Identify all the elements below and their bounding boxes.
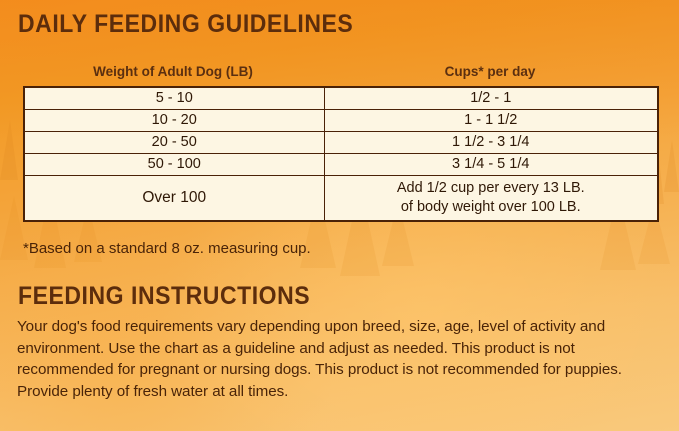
table-row-over-100: Over 100 Add 1/2 cup per every 13 LB. of… bbox=[24, 175, 658, 221]
table-row: 5 - 10 1/2 - 1 bbox=[24, 87, 658, 109]
page-title-feeding-instructions: FEEDING INSTRUCTIONS bbox=[18, 282, 310, 310]
measuring-cup-footnote: *Based on a standard 8 oz. measuring cup… bbox=[23, 240, 311, 257]
cell-weight: 10 - 20 bbox=[24, 109, 324, 131]
cell-cups: 1 - 1 1/2 bbox=[324, 109, 658, 131]
cell-cups: 1/2 - 1 bbox=[324, 87, 658, 109]
cell-weight: 20 - 50 bbox=[24, 131, 324, 153]
cell-weight: Over 100 bbox=[24, 175, 324, 221]
feeding-guidelines-table: 5 - 10 1/2 - 1 10 - 20 1 - 1 1/2 20 - 50… bbox=[23, 86, 659, 222]
cell-weight: 5 - 10 bbox=[24, 87, 324, 109]
table-row: 10 - 20 1 - 1 1/2 bbox=[24, 109, 658, 131]
cell-cups-note: Add 1/2 cup per every 13 LB. of body wei… bbox=[324, 175, 658, 221]
feeding-guidelines-panel: DAILY FEEDING GUIDELINES Weight of Adult… bbox=[0, 0, 679, 431]
table-column-headers: Weight of Adult Dog (LB) Cups* per day bbox=[23, 56, 657, 86]
feeding-instructions-body: Your dog's food requirements vary depend… bbox=[17, 316, 667, 402]
cell-cups: 3 1/4 - 5 1/4 bbox=[324, 153, 658, 175]
cell-weight: 50 - 100 bbox=[24, 153, 324, 175]
column-header-cups: Cups* per day bbox=[323, 64, 657, 79]
feeding-table-wrapper: Weight of Adult Dog (LB) Cups* per day 5… bbox=[23, 56, 657, 222]
table-row: 20 - 50 1 1/2 - 3 1/4 bbox=[24, 131, 658, 153]
cell-cups: 1 1/2 - 3 1/4 bbox=[324, 131, 658, 153]
page-title-daily-feeding-guidelines: DAILY FEEDING GUIDELINES bbox=[18, 10, 353, 38]
column-header-weight: Weight of Adult Dog (LB) bbox=[23, 64, 323, 79]
table-row: 50 - 100 3 1/4 - 5 1/4 bbox=[24, 153, 658, 175]
cell-cups-note-line1: Add 1/2 cup per every 13 LB. bbox=[329, 179, 654, 198]
cell-cups-note-line2: of body weight over 100 LB. bbox=[329, 198, 654, 217]
